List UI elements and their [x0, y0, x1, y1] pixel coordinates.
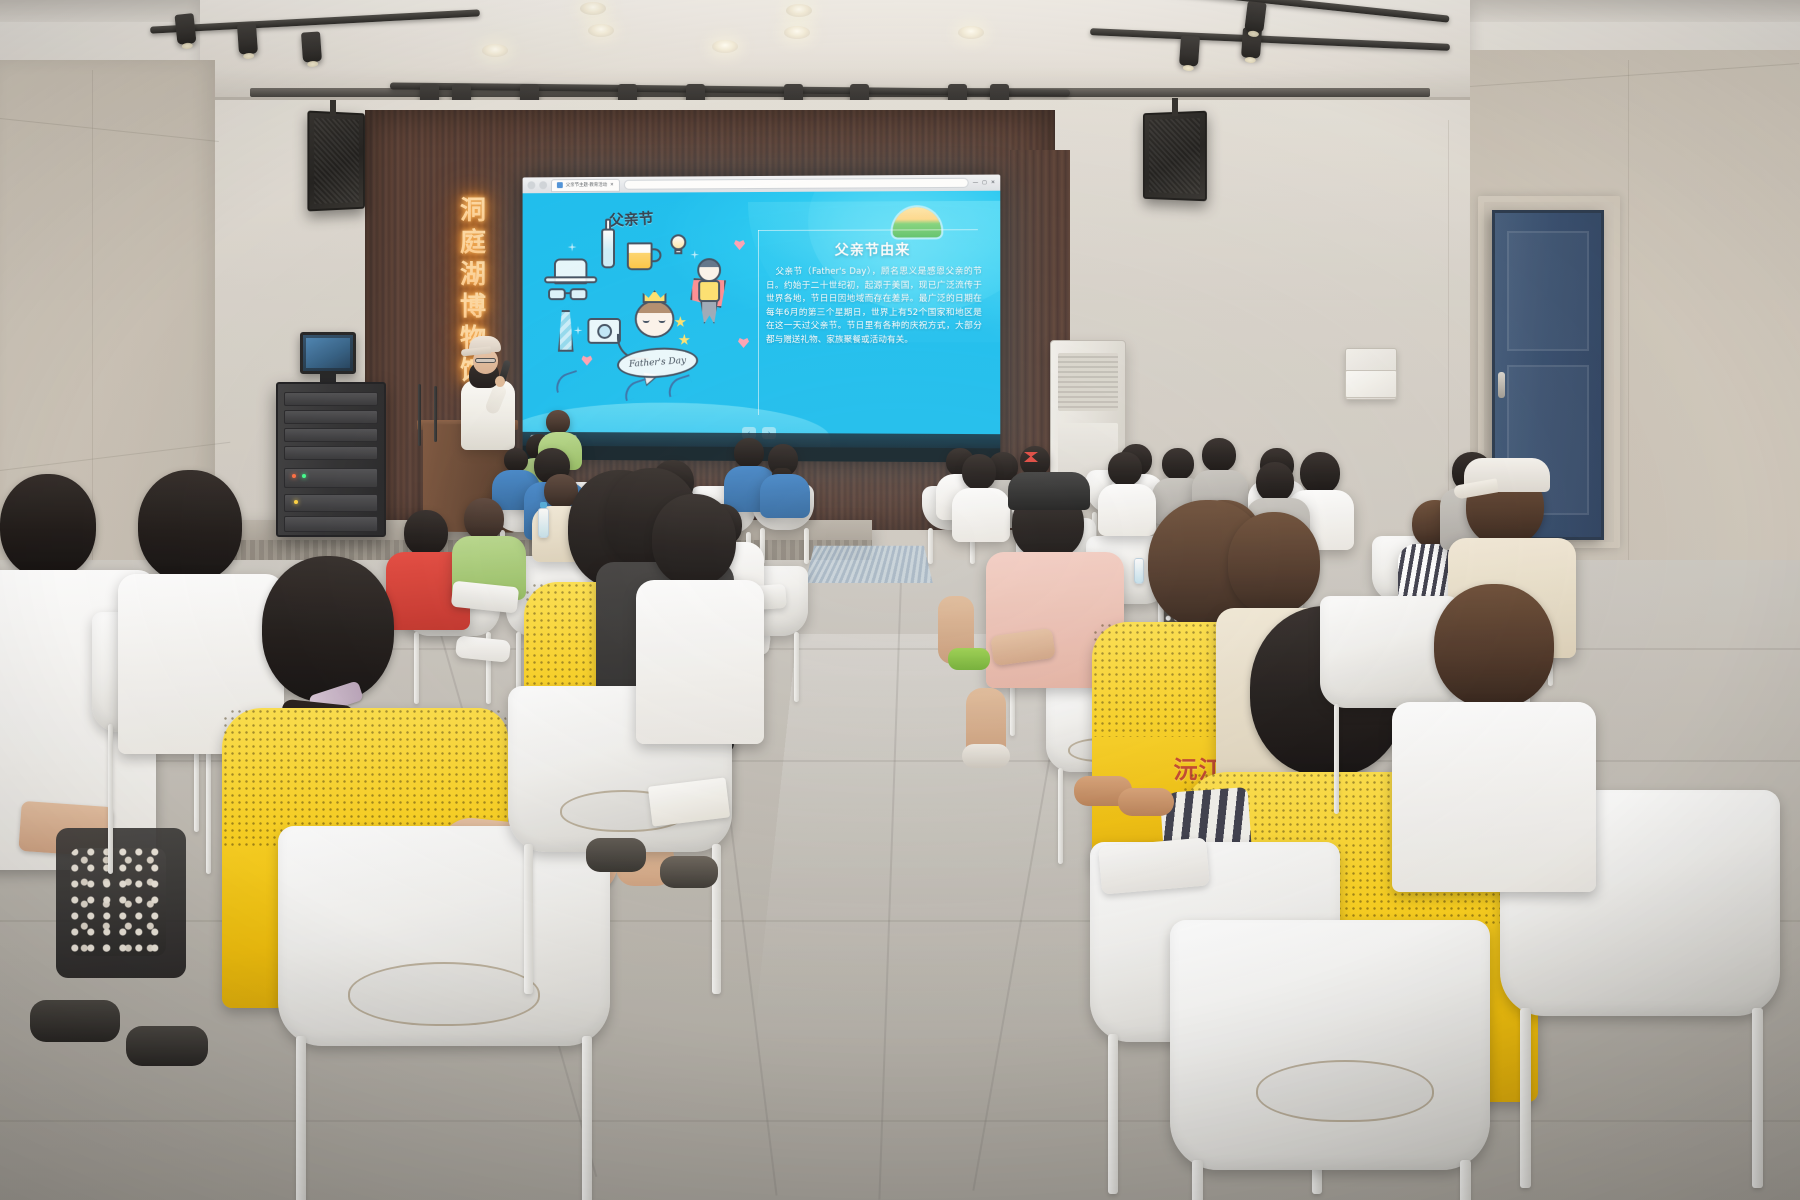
close-button[interactable]: ✕ [991, 180, 995, 186]
slide-illustration: 父亲节 Fat [540, 206, 748, 396]
status-led [302, 474, 306, 478]
hero-body-icon [698, 280, 720, 302]
rack-unit [284, 468, 378, 488]
door-handle[interactable] [1498, 372, 1505, 398]
grass-doodle-icon [665, 374, 694, 397]
track-lamp [237, 23, 258, 54]
presenter-hand [495, 376, 505, 387]
superhero-dad-icon [688, 258, 730, 326]
av-equipment-rack [276, 382, 386, 537]
track-lamp [174, 13, 196, 45]
necktie-icon [558, 310, 574, 352]
lightbulb-icon [670, 234, 686, 250]
mug-handle-icon [651, 248, 662, 262]
hat-brim-icon [544, 276, 597, 283]
wall-speaker-right [1143, 111, 1207, 202]
heart-icon [738, 338, 749, 348]
speaker-mount-right [1172, 98, 1178, 116]
ceiling-downlight [784, 26, 810, 39]
footwear [962, 744, 1010, 768]
heart-icon [581, 356, 592, 366]
ceiling-downlight [588, 24, 614, 37]
bottle-cap [540, 502, 547, 508]
projection-screen: 父亲节主题·教育活动 ✕ — ▢ ✕ 父亲节 [523, 175, 1001, 463]
lecture-hall-photo: 洞 庭 湖 博 物 馆 父亲节主题·教育活动 ✕ [0, 0, 1800, 1200]
browser-tab[interactable]: 父亲节主题·教育活动 ✕ [551, 178, 620, 191]
rack-unit [284, 516, 378, 532]
favicon-icon [557, 182, 563, 188]
footwear [1118, 788, 1174, 816]
presenter-glasses [475, 358, 496, 363]
neon-char: 庭 [460, 228, 486, 258]
grass-doodle-icon [621, 378, 650, 401]
browser-tab-title: 父亲节主题·教育活动 [566, 182, 607, 188]
monitor-screen [306, 338, 350, 368]
grass-doodle-icon [552, 370, 581, 393]
ceiling-downlight [958, 26, 984, 39]
rack-unit [284, 428, 378, 442]
maximize-button[interactable]: ▢ [982, 180, 987, 186]
sparkle-icon [568, 243, 577, 252]
footwear [126, 1026, 208, 1066]
presenter [455, 336, 521, 448]
address-bar[interactable] [624, 178, 969, 190]
bottle-icon [601, 229, 615, 269]
minimize-button[interactable]: — [973, 180, 978, 186]
glasses-left-icon [548, 288, 566, 300]
close-icon[interactable]: ✕ [610, 182, 614, 188]
neon-char: 洞 [460, 196, 486, 226]
rack-unit [284, 494, 378, 512]
track-lamp [1179, 35, 1200, 66]
microphone-stand [418, 384, 421, 446]
ceiling-downlight [580, 2, 606, 15]
slide-heading-cn: 父亲节 [609, 207, 655, 230]
slide-rule-vertical [758, 230, 759, 415]
crown-icon [643, 290, 667, 303]
window-controls: — ▢ ✕ [973, 180, 995, 186]
ceiling-downlight [786, 4, 812, 17]
status-led [292, 474, 296, 478]
wall-switch-plate[interactable] [1345, 370, 1397, 398]
ceiling-downlight [482, 44, 508, 57]
footwear [660, 856, 718, 888]
track-lamp [1244, 1, 1267, 33]
hero-head-icon [697, 258, 721, 282]
water-bottle[interactable] [1134, 558, 1144, 584]
heart-icon [734, 240, 745, 250]
control-monitor[interactable] [300, 332, 356, 374]
glasses-bridge-icon [566, 292, 572, 294]
neon-char: 湖 [460, 260, 486, 290]
speaker-mount-left [330, 100, 336, 116]
patterned-bag [70, 848, 166, 956]
hero-legs-icon [700, 300, 718, 324]
star-icon [674, 316, 686, 328]
star-icon [678, 334, 690, 346]
footwear [30, 1000, 120, 1042]
slide-section-title: 父亲节由来 [772, 239, 974, 260]
presenter-body [461, 380, 515, 450]
microphone-stand [434, 386, 437, 442]
slide-body-text: 父亲节（Father's Day），顾名思义是感恩父亲的节日。约始于二十世纪初，… [766, 266, 982, 348]
wall-speaker-left [307, 111, 365, 212]
water-bottle[interactable] [538, 508, 549, 538]
lightbulb-base-icon [674, 249, 682, 254]
rack-unit [284, 446, 378, 460]
ac-grille [1058, 353, 1118, 411]
chevron-left-icon[interactable] [527, 181, 535, 189]
door-panel-upper [1507, 231, 1589, 351]
footwear [586, 838, 646, 872]
sparkle-icon [574, 326, 583, 335]
ceiling-downlight [712, 40, 738, 53]
status-led [294, 500, 298, 504]
rack-unit [284, 410, 378, 424]
beer-mug-icon [627, 242, 653, 270]
track-lamp [301, 31, 322, 62]
child-face-icon [635, 300, 675, 338]
footwear [948, 648, 990, 670]
glasses-right-icon [570, 288, 588, 300]
neon-char: 博 [460, 292, 486, 322]
reload-icon[interactable] [539, 181, 547, 189]
rack-unit [284, 392, 378, 406]
slide-canvas: 父亲节 Fat [523, 191, 1001, 449]
floor-mat [805, 546, 932, 583]
camera-lens-icon [597, 324, 612, 339]
